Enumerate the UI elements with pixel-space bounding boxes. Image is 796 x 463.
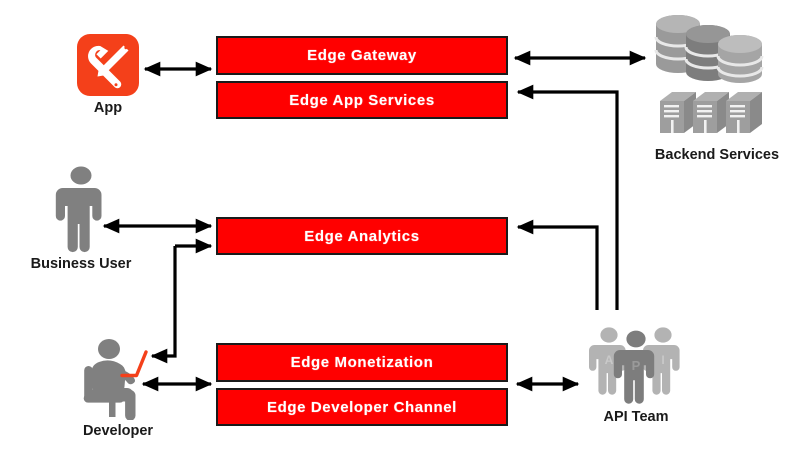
box-edge-gateway-label: Edge Gateway <box>307 47 417 64</box>
database-servers-icon <box>642 4 792 144</box>
actor-api-team[interactable]: A I P API Team <box>584 324 688 425</box>
connector-apiteam-to-app-services <box>518 92 617 310</box>
box-edge-analytics[interactable]: Edge Analytics <box>216 217 508 255</box>
actor-developer-label: Developer <box>83 423 153 439</box>
actor-business-user[interactable]: Business User <box>22 165 140 272</box>
box-edge-developer-channel-label: Edge Developer Channel <box>267 399 457 416</box>
app-tools-icon <box>76 33 140 97</box>
svg-text:P: P <box>632 358 641 373</box>
box-edge-app-services-label: Edge App Services <box>289 92 435 109</box>
box-edge-app-services[interactable]: Edge App Services <box>216 81 508 119</box>
svg-text:A: A <box>605 353 614 367</box>
actor-backend-services-label: Backend Services <box>655 147 779 163</box>
box-edge-analytics-label: Edge Analytics <box>304 228 419 245</box>
box-edge-gateway[interactable]: Edge Gateway <box>216 36 508 75</box>
connector-apiteam-to-analytics <box>518 227 597 310</box>
actor-app[interactable]: App <box>70 33 146 116</box>
box-edge-monetization-label: Edge Monetization <box>291 354 434 371</box>
actor-api-team-label: API Team <box>603 409 668 425</box>
architecture-diagram: Edge Gateway --> Backend Services --> Ed… <box>0 0 796 463</box>
box-edge-developer-channel[interactable]: Edge Developer Channel <box>216 388 508 426</box>
person-standing-icon <box>53 165 109 253</box>
svg-text:I: I <box>661 353 664 367</box>
actor-backend-services[interactable]: Backend Services <box>638 4 796 163</box>
actor-developer[interactable]: Developer <box>62 338 174 439</box>
person-laptop-icon <box>76 338 160 420</box>
actor-app-label: App <box>94 100 122 116</box>
people-group-icon: A I P <box>586 324 686 406</box>
actor-business-user-label: Business User <box>31 256 132 272</box>
box-edge-monetization[interactable]: Edge Monetization <box>216 343 508 382</box>
